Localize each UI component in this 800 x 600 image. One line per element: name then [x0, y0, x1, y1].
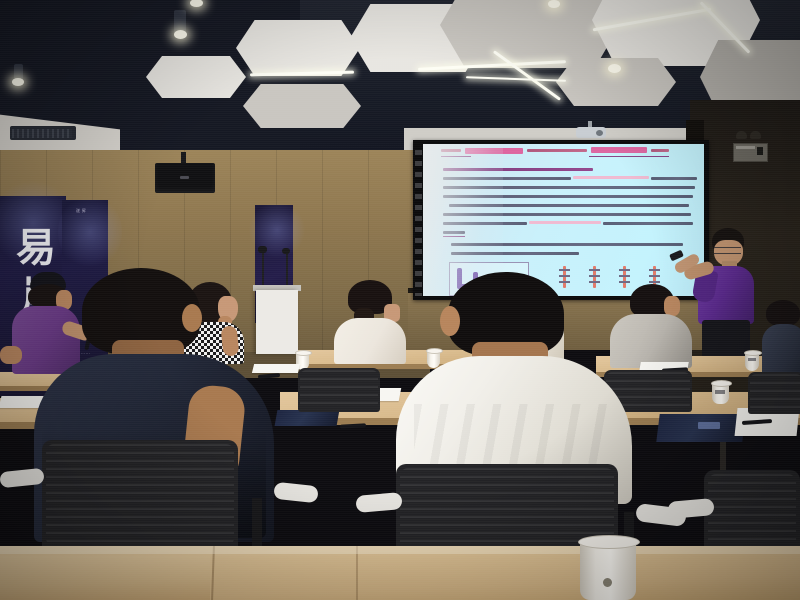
slide-title-text-3: [651, 149, 669, 152]
downlight-1: [174, 30, 187, 39]
paper-cup-rim: [295, 350, 312, 356]
paper-cup[interactable]: [580, 540, 636, 600]
slide-redaction-2: [529, 221, 601, 224]
cup-logo: [715, 390, 725, 394]
banner-glow-2: [58, 194, 122, 270]
downlight-3: [12, 78, 24, 86]
hex-panel-5: [440, 0, 620, 68]
presenter: [692, 228, 772, 358]
brochure[interactable]: [275, 410, 340, 426]
ac-duct-vanes: [12, 129, 72, 138]
table-seam: [356, 546, 358, 600]
downlight-5: [548, 0, 560, 8]
paper-cup-rim: [578, 535, 640, 549]
speaker-logo: [180, 176, 189, 179]
slide-redaction-1: [573, 176, 649, 179]
fire-panel-button[interactable]: [757, 147, 763, 155]
hex-panel-3: [243, 84, 361, 128]
downlight-4: [608, 64, 621, 73]
attendee-ear: [182, 304, 202, 332]
cup-logo: [603, 578, 612, 587]
chair-mesh: [300, 370, 378, 410]
hex-panel-2: [236, 20, 360, 76]
slide-body-line: [651, 177, 697, 180]
cup-logo: [748, 358, 756, 361]
table-highlight-front: [0, 546, 800, 554]
attendee-ear: [440, 306, 460, 336]
slide-title-text-2: [527, 149, 587, 152]
attendee-dark-right: [762, 300, 800, 380]
slide-title-underline-2: [589, 156, 669, 157]
slide-title-highlight-2: [591, 147, 647, 153]
glasses-icon: [714, 247, 741, 254]
flipchart-clamp-left: [258, 246, 267, 253]
banner-logo-text: 遂 昇: [76, 208, 86, 214]
chair-mesh: [750, 374, 800, 412]
pen[interactable]: [340, 423, 366, 428]
table-row-front-left: [0, 556, 210, 600]
paper-cup-rim: [711, 380, 732, 387]
brochure-accent: [698, 422, 720, 429]
chair-post: [252, 498, 262, 546]
attendee-left-edge-arm: [0, 346, 22, 364]
slide-body-line: [603, 222, 693, 225]
chair-mesh: [46, 444, 234, 546]
conference-room-photo: 易 岸 ————— 遂 昇 ··············: [0, 0, 800, 600]
flipchart-clamp-right: [282, 248, 290, 254]
attendee-face: [664, 296, 680, 316]
hex-panel-1: [146, 56, 246, 98]
paper-cup-rim: [744, 350, 762, 356]
emergency-light-1: [736, 131, 747, 139]
projector-lens-icon: [596, 130, 603, 136]
banner-character-1: 易: [16, 228, 56, 268]
emergency-light-2: [750, 131, 761, 139]
fire-panel-label: [736, 146, 755, 149]
attendee-hair: [766, 300, 800, 326]
